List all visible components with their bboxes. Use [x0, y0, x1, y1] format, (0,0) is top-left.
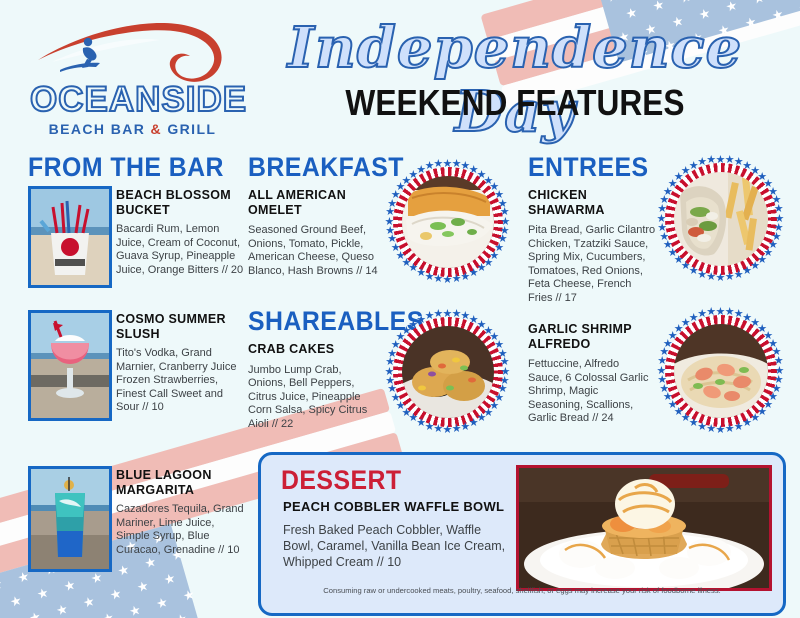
menu-item-chicken-shawarma: CHICKEN SHAWARMA Pita Bread, Garlic Cila…: [528, 188, 656, 306]
menu-item-garlic-shrimp-alfredo: GARLIC SHRIMP ALFREDO Fettuccine, Alfred…: [528, 322, 656, 426]
ring-star-icon: ★: [469, 418, 479, 429]
menu-item-name: PEACH COBBLER WAFFLE BOWL: [283, 500, 513, 515]
brand-tagline-amp: &: [151, 121, 163, 137]
crab-cakes-photo: ★★★★★★★★★★★★★★★★★★★★★★★★★★★★★★★★★★★★★★★★: [384, 308, 512, 436]
garlic-shrimp-alfredo-photo: ★★★★★★★★★★★★★★★★★★★★★★★★★★★★★★★★★★★★★★★★: [656, 306, 786, 436]
ring-star-icon: ★: [734, 270, 744, 281]
ring-star-icon: ★: [716, 425, 726, 436]
menu-item-name: BLUE LAGOON MARGARITA: [116, 468, 244, 497]
flag-star-icon: ★: [101, 610, 116, 618]
ring-star-icon: ★: [706, 424, 716, 435]
menu-item-name: BEACH BLOSSOM BUCKET: [116, 188, 244, 217]
section-heading-from-the-bar: FROM THE BAR: [28, 152, 224, 183]
flag-star-icon: ★: [770, 7, 785, 23]
menu-item-name: CHICKEN SHAWARMA: [528, 188, 656, 217]
ring-star-icon: ★: [725, 272, 735, 283]
flag-star-icon: ★: [0, 577, 4, 593]
page-title-script: Independence Day: [270, 16, 760, 144]
dessert-panel: DESSERT PEACH COBBLER WAFFLE BOWL Fresh …: [258, 452, 786, 616]
ring-star-icon: ★: [460, 272, 470, 283]
ring-star-icon: ★: [443, 275, 453, 286]
brand-tagline-left: BEACH BAR: [49, 121, 146, 137]
ring-star-icon: ★: [443, 425, 453, 436]
peach-cobbler-waffle-bowl-photo: [516, 465, 772, 591]
menu-item-description: Fettuccine, Alfredo Sauce, 6 Colossal Ga…: [528, 358, 656, 426]
brand-tagline: BEACH BAR & GRILL: [30, 121, 235, 137]
flag-star-icon: ★: [28, 610, 43, 618]
ring-star-icon: ★: [433, 309, 443, 320]
menu-item-description: Bacardi Rum, Lemon Juice, Cream of Cocon…: [116, 223, 244, 277]
menu-item-description: Jumbo Lump Crab, Onions, Bell Peppers, C…: [248, 364, 380, 432]
brand-name: OCEANSIDE: [30, 80, 235, 120]
blue-lagoon-margarita-photo: [28, 466, 112, 572]
menu-item-name: COSMO SUMMER SLUSH: [116, 312, 244, 341]
flag-star-icon: ★: [174, 611, 189, 618]
menu-item-name: CRAB CAKES: [248, 342, 380, 357]
flag-star-icon: ★: [751, 0, 766, 6]
flag-star-icon: ★: [62, 578, 77, 594]
menu-item-crab-cakes: CRAB CAKES Jumbo Lump Crab, Onions, Bell…: [248, 342, 380, 431]
section-heading-dessert: DESSERT: [281, 465, 402, 496]
flag-star-icon: ★: [605, 0, 620, 4]
menu-item-all-american-omelet: ALL AMERICAN OMELET Seasoned Ground Beef…: [248, 188, 380, 278]
menu-page: ★★★★★★★★★★★★★★★★★★★★★★★★★★★★★★★★★★★★★★★★…: [0, 0, 800, 618]
ring-star-icon: ★: [706, 307, 716, 318]
all-american-omelet-photo: ★★★★★★★★★★★★★★★★★★★★★★★★★★★★★★★★★★★★★★★★: [384, 158, 512, 286]
ring-star-icon: ★: [469, 268, 479, 279]
ring-star-icon: ★: [742, 418, 752, 429]
ring-star-icon: ★: [742, 266, 752, 277]
ring-star-icon: ★: [706, 272, 716, 283]
flag-star-icon: ★: [651, 0, 666, 13]
flag-star-icon: ★: [678, 0, 693, 5]
ring-star-icon: ★: [433, 274, 443, 285]
brand-logo: OCEANSIDE BEACH BAR & GRILL: [30, 18, 235, 138]
ring-star-icon: ★: [734, 422, 744, 433]
flag-star-icon: ★: [8, 593, 23, 609]
section-heading-entrees: ENTREES: [528, 152, 649, 183]
flag-star-icon: ★: [81, 594, 96, 610]
ring-star-icon: ★: [452, 274, 462, 285]
menu-item-name: GARLIC SHRIMP ALFREDO: [528, 322, 656, 351]
flag-star-icon: ★: [55, 602, 70, 618]
flag-star-icon: ★: [108, 586, 123, 602]
flag-star-icon: ★: [724, 0, 739, 14]
chicken-shawarma-photo: ★★★★★★★★★★★★★★★★★★★★★★★★★★★★★★★★★★★★★★★★: [656, 154, 786, 284]
flag-star-icon: ★: [116, 562, 131, 578]
section-heading-breakfast: BREAKFAST: [248, 152, 404, 183]
menu-item-description: Fresh Baked Peach Cobbler, Waffle Bowl, …: [283, 522, 513, 570]
menu-item-description: Cazadores Tequila, Grand Mariner, Lime J…: [116, 503, 244, 557]
flag-star-icon: ★: [181, 587, 196, 603]
brand-tagline-right: GRILL: [167, 121, 216, 137]
ring-star-icon: ★: [425, 422, 435, 433]
flag-star-icon: ★: [35, 585, 50, 601]
ring-star-icon: ★: [425, 272, 435, 283]
cosmo-summer-slush-photo: [28, 310, 112, 421]
flag-star-icon: ★: [89, 570, 104, 586]
menu-item-name: ALL AMERICAN OMELET: [248, 188, 380, 217]
food-safety-disclaimer: Consuming raw or undercooked meats, poul…: [261, 586, 783, 595]
ring-star-icon: ★: [452, 424, 462, 435]
menu-item-description: Seasoned Ground Beef, Onions, Tomato, Pi…: [248, 224, 380, 278]
ring-star-icon: ★: [706, 155, 716, 166]
beach-blossom-bucket-photo: [28, 186, 112, 288]
flag-star-icon: ★: [162, 571, 177, 587]
ring-star-icon: ★: [433, 424, 443, 435]
ring-star-icon: ★: [433, 159, 443, 170]
ring-star-icon: ★: [460, 422, 470, 433]
ring-star-icon: ★: [697, 270, 707, 281]
menu-item-description: Pita Bread, Garlic Cilantro Chicken, Tza…: [528, 224, 656, 306]
flag-star-icon: ★: [135, 579, 150, 595]
wave-surfer-logo-icon: [30, 18, 235, 88]
flag-star-icon: ★: [128, 603, 143, 618]
menu-item-description: Tito's Vodka, Grand Marnier, Cranberry J…: [116, 347, 244, 415]
page-subtitle: WEEKEND FEATURES: [299, 82, 730, 124]
ring-star-icon: ★: [697, 422, 707, 433]
ring-star-icon: ★: [716, 273, 726, 284]
flag-star-icon: ★: [155, 595, 170, 611]
ring-star-icon: ★: [725, 424, 735, 435]
